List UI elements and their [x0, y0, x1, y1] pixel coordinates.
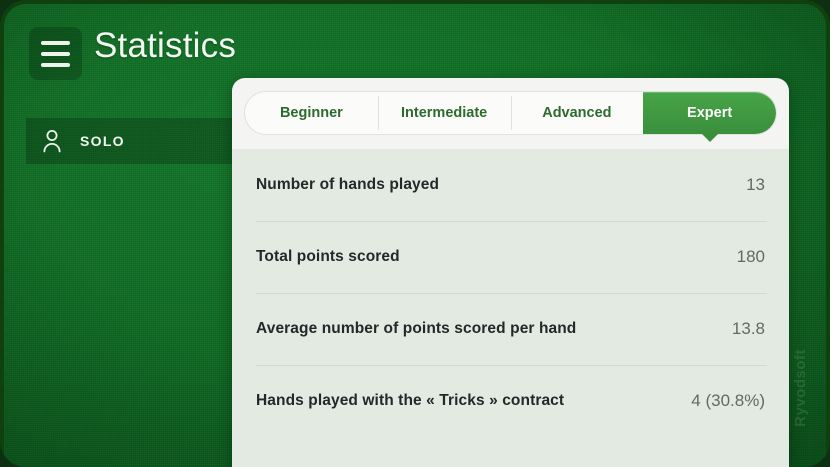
stat-value: 4 (30.8%): [691, 391, 767, 411]
hamburger-menu-button[interactable]: [29, 27, 82, 80]
table-row: Total points scored 180: [232, 221, 789, 293]
stat-value: 13.8: [732, 319, 767, 339]
hamburger-menu-icon-bar-1: [41, 41, 70, 45]
tab-intermediate[interactable]: Intermediate: [378, 92, 511, 134]
stat-value: 13: [746, 175, 767, 195]
stat-label: Total points scored: [256, 248, 400, 266]
page-title: Statistics: [94, 26, 236, 66]
tab-advanced-label: Advanced: [542, 105, 611, 121]
stat-label: Hands played with the « Tricks » contrac…: [256, 392, 564, 410]
watermark-text: Ryvodsoft: [792, 349, 809, 427]
felt-background: Statistics SOLO Ryvodsoft Beginner Inte: [4, 4, 826, 467]
sidebar-item-solo-label: SOLO: [80, 133, 125, 149]
stat-label: Number of hands played: [256, 176, 439, 194]
app-frame: Statistics SOLO Ryvodsoft Beginner Inte: [0, 0, 830, 467]
stat-value: 180: [737, 247, 767, 267]
active-tab-pointer-icon: [701, 133, 719, 142]
tab-beginner[interactable]: Beginner: [245, 92, 378, 134]
table-row: Average number of points scored per hand…: [232, 293, 789, 365]
tab-beginner-label: Beginner: [280, 105, 343, 121]
table-row: Number of hands played 13: [232, 149, 789, 221]
hamburger-menu-icon-bar-3: [41, 63, 70, 67]
statistics-list: Number of hands played 13 Total points s…: [232, 149, 789, 467]
statistics-panel: Beginner Intermediate Advanced Expert Nu…: [232, 78, 789, 467]
tab-expert[interactable]: Expert: [643, 92, 776, 134]
person-icon: [42, 129, 62, 153]
difficulty-tab-bar: Beginner Intermediate Advanced Expert: [244, 91, 777, 135]
stat-label: Average number of points scored per hand: [256, 320, 576, 338]
tab-advanced[interactable]: Advanced: [511, 92, 644, 134]
table-row: Hands played with the « Tricks » contrac…: [232, 365, 789, 437]
tab-intermediate-label: Intermediate: [401, 105, 487, 121]
hamburger-menu-icon-bar-2: [41, 52, 70, 56]
tab-expert-label: Expert: [687, 105, 732, 121]
